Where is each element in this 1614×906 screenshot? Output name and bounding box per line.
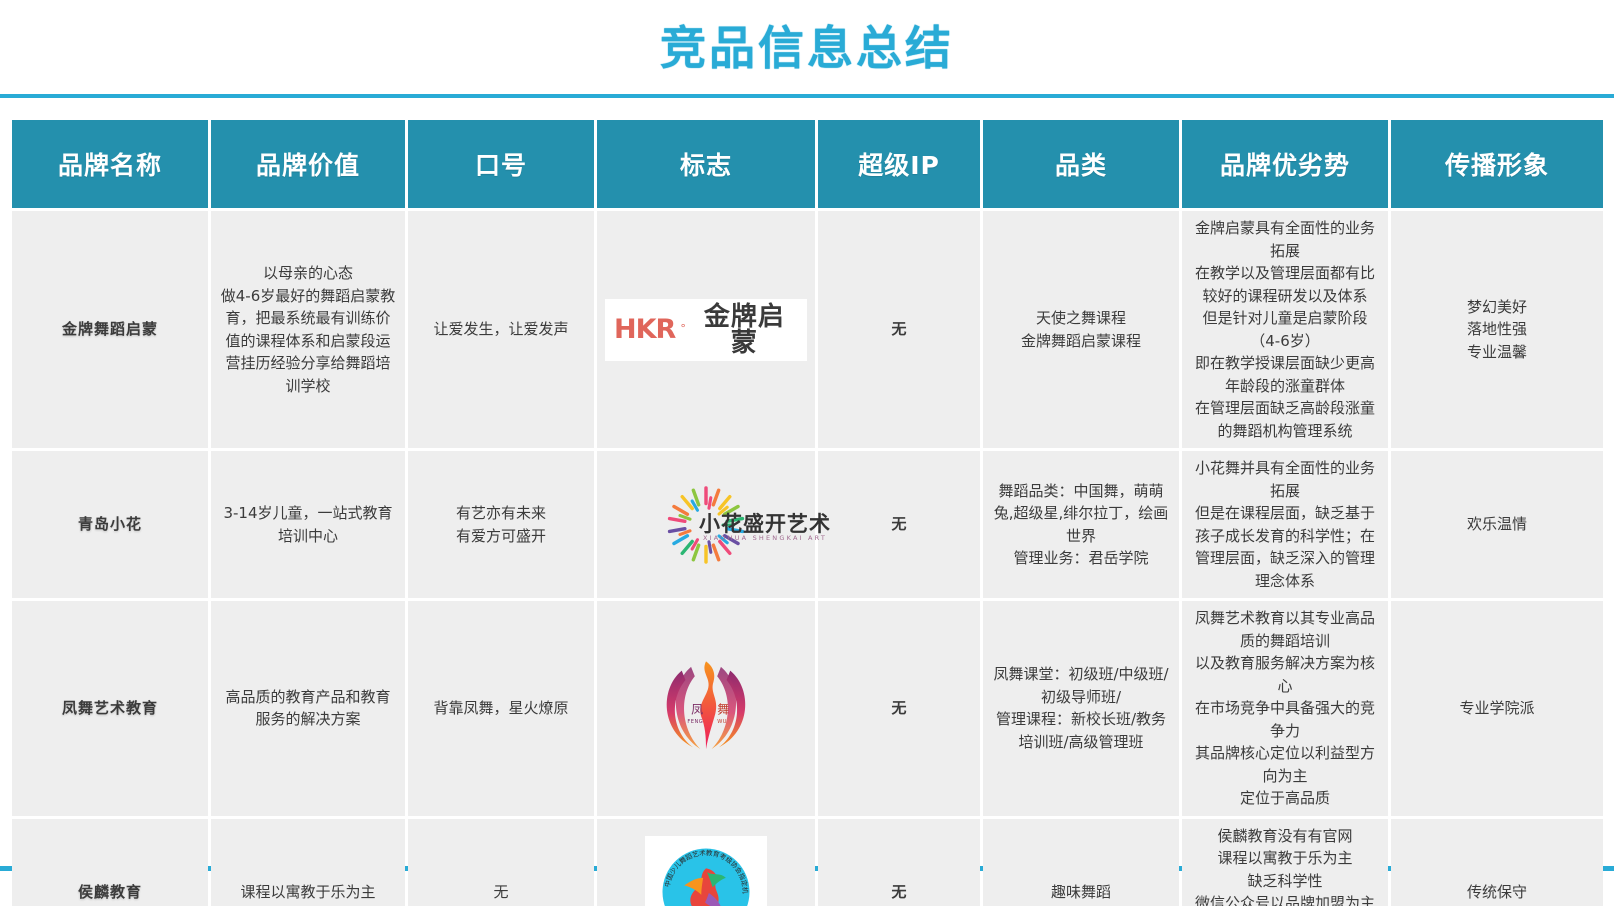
logo-container: 小花盛开艺术 XIAOHUA SHENGKAI ART (605, 482, 807, 568)
cell-logo: HKR° 金牌启蒙 (597, 211, 815, 448)
cell-pros-cons: 金牌启蒙具有全面性的业务拓展 在教学以及管理层面都有比较好的课程研发以及体系 但… (1182, 211, 1388, 448)
cell-brand-name: 金牌舞蹈启蒙 (12, 211, 208, 448)
table-row: 凤舞艺术教育 高品质的教育产品和教育服务的解决方案 背靠凤舞，星火燎原 (12, 601, 1603, 816)
logo-container: HKR° 金牌启蒙 (605, 299, 807, 361)
cell-pros-cons: 侯麟教育没有有官网 课程以寓教于乐为主 缺乏科学性 微信公众号以品牌加盟为主 加… (1182, 819, 1388, 906)
svg-text:WU: WU (717, 719, 727, 725)
column-header-category: 品类 (983, 120, 1179, 208)
registered-dot-icon: ° (680, 321, 686, 338)
column-header-image: 传播形象 (1391, 120, 1603, 208)
logo-container: 凤 舞 FENG WU (605, 652, 807, 764)
cell-image: 梦幻美好 落地性强 专业温馨 (1391, 211, 1603, 448)
cell-slogan: 无 (408, 819, 594, 906)
cell-pros-cons: 小花舞并具有全面性的业务拓展 但是在课程层面，缺乏基于孩子成长发育的科学性；在管… (1182, 451, 1388, 598)
svg-text:FENG: FENG (687, 719, 703, 725)
cell-category: 天使之舞课程 金牌舞蹈启蒙课程 (983, 211, 1179, 448)
cell-brand-value: 3-14岁儿童，一站式教育培训中心 (211, 451, 405, 598)
title-area: 竞品信息总结 (0, 0, 1614, 96)
cell-brand-value: 以母亲的心态 做4-6岁最好的舞蹈启蒙教育，把最系统最有训练价值的课程体系和启蒙… (211, 211, 405, 448)
cell-image: 传统保守 (1391, 819, 1603, 906)
cell-pros-cons: 凤舞艺术教育以其专业高品质的舞蹈培训 以及教育服务解决方案为核心 在市场竞争中具… (1182, 601, 1388, 816)
column-header-slogan: 口号 (408, 120, 594, 208)
column-header-brand-name: 品牌名称 (12, 120, 208, 208)
table-row: 侯麟教育 课程以寓教于乐为主 无 中国少儿舞蹈艺术教育考级协会指定机构 (12, 819, 1603, 906)
svg-text:凤: 凤 (691, 703, 703, 717)
slide-root: 竞品信息总结 品牌名称 品牌价值 口号 标志 超级IP 品类 品牌优劣势 传播形… (0, 0, 1614, 906)
cell-brand-value: 高品质的教育产品和教育服务的解决方案 (211, 601, 405, 816)
houlin-jiaoyu-logo: 中国少儿舞蹈艺术教育考级协会指定机构 Dusui (645, 836, 767, 906)
cell-category: 趣味舞蹈 (983, 819, 1179, 906)
cell-super-ip: 无 (818, 819, 980, 906)
cell-slogan: 让爱发生，让爱发声 (408, 211, 594, 448)
column-header-brand-value: 品牌价值 (211, 120, 405, 208)
cell-logo: 凤 舞 FENG WU (597, 601, 815, 816)
xiaohua-shengkai-logo: 小花盛开艺术 XIAOHUA SHENGKAI ART (663, 482, 749, 568)
title-divider (0, 94, 1614, 98)
cell-category: 凤舞课堂：初级班/中级班/初级导师班/ 管理课程：新校长班/教务培训班/高级管理… (983, 601, 1179, 816)
cell-category: 舞蹈品类：中国舞，萌萌兔,超级星,绯尔拉丁，绘画世界 管理业务：君岳学院 (983, 451, 1179, 598)
logo-chinese-text: 金牌启蒙 (691, 304, 798, 356)
column-header-logo: 标志 (597, 120, 815, 208)
cell-brand-name: 侯麟教育 (12, 819, 208, 906)
cell-logo: 中国少儿舞蹈艺术教育考级协会指定机构 Dusui (597, 819, 815, 906)
column-header-super-ip: 超级IP (818, 120, 980, 208)
cell-brand-name: 凤舞艺术教育 (12, 601, 208, 816)
cell-super-ip: 无 (818, 601, 980, 816)
cell-image: 欢乐温情 (1391, 451, 1603, 598)
cell-super-ip: 无 (818, 211, 980, 448)
table-row: 青岛小花 3-14岁儿童，一站式教育培训中心 有艺亦有未来 有爱方可盛开 (12, 451, 1603, 598)
cell-brand-name: 青岛小花 (12, 451, 208, 598)
logo-pinyin-text: XIAOHUA SHENGKAI ART (703, 534, 827, 544)
cell-image: 专业学院派 (1391, 601, 1603, 816)
cell-logo: 小花盛开艺术 XIAOHUA SHENGKAI ART (597, 451, 815, 598)
jinpai-qimeng-logo: HKR° 金牌启蒙 (605, 299, 807, 361)
cell-super-ip: 无 (818, 451, 980, 598)
cell-slogan: 有艺亦有未来 有爱方可盛开 (408, 451, 594, 598)
hkr-wordmark: HKR (614, 316, 675, 343)
comparison-table-wrapper: 品牌名称 品牌价值 口号 标志 超级IP 品类 品牌优劣势 传播形象 金牌舞蹈启… (9, 117, 1605, 906)
cell-brand-value: 课程以寓教于乐为主 (211, 819, 405, 906)
comparison-table: 品牌名称 品牌价值 口号 标志 超级IP 品类 品牌优劣势 传播形象 金牌舞蹈启… (9, 117, 1606, 906)
table-header-row: 品牌名称 品牌价值 口号 标志 超级IP 品类 品牌优劣势 传播形象 (12, 120, 1603, 208)
page-title: 竞品信息总结 (660, 25, 954, 71)
column-header-pros-cons: 品牌优劣势 (1182, 120, 1388, 208)
dancer-circle-icon: 中国少儿舞蹈艺术教育考级协会指定机构 Dusui (654, 840, 758, 906)
logo-container: 中国少儿舞蹈艺术教育考级协会指定机构 Dusui (605, 836, 807, 906)
fengwu-logo: 凤 舞 FENG WU (650, 652, 762, 764)
table-row: 金牌舞蹈启蒙 以母亲的心态 做4-6岁最好的舞蹈启蒙教育，把最系统最有训练价值的… (12, 211, 1603, 448)
cell-slogan: 背靠凤舞，星火燎原 (408, 601, 594, 816)
svg-text:舞: 舞 (717, 703, 729, 717)
